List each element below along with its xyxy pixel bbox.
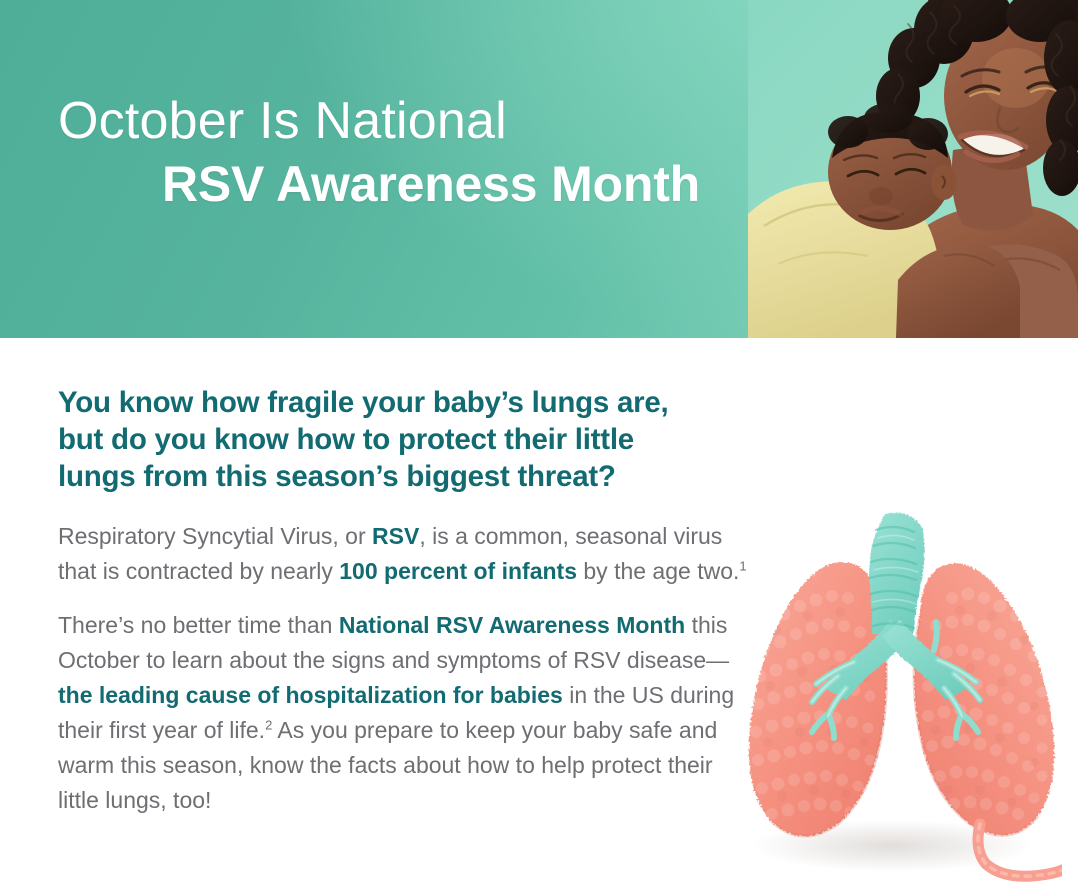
lede-line-3: lungs from this season’s biggest threat? [58, 458, 858, 495]
paragraph-1: Respiratory Syncytial Virus, or RSV, is … [58, 519, 748, 589]
header-banner: October Is National RSV Awareness Month [0, 0, 1078, 338]
crocheted-lungs-illustration [742, 502, 1062, 888]
lede-line-1: You know how fragile your baby’s lungs a… [58, 384, 858, 421]
mother-holding-sleeping-baby-photo [748, 0, 1078, 338]
p2-bold-leading-cause: the leading cause of hospitalization for… [58, 682, 563, 708]
p1-bold-rsv: RSV [372, 523, 419, 549]
rsv-awareness-flyer: October Is National RSV Awareness Month … [0, 0, 1078, 888]
lede-line-2: but do you know how to protect their lit… [58, 421, 858, 458]
p1-bold-percent: 100 percent of infants [339, 558, 577, 584]
p2-bold-month: National RSV Awareness Month [339, 612, 685, 638]
body-copy: Respiratory Syncytial Virus, or RSV, is … [58, 519, 748, 818]
banner-title-line2: RSV Awareness Month [162, 154, 700, 214]
paragraph-2: There’s no better time than National RSV… [58, 608, 748, 818]
banner-title: October Is National RSV Awareness Month [58, 92, 700, 214]
p1-part3: by the age two. [577, 558, 739, 584]
p1-part1: Respiratory Syncytial Virus, or [58, 523, 372, 549]
content-area: You know how fragile your baby’s lungs a… [0, 338, 1078, 888]
banner-title-line1: October Is National [58, 92, 700, 150]
p2-part1: There’s no better time than [58, 612, 339, 638]
lede-heading: You know how fragile your baby’s lungs a… [58, 384, 858, 495]
